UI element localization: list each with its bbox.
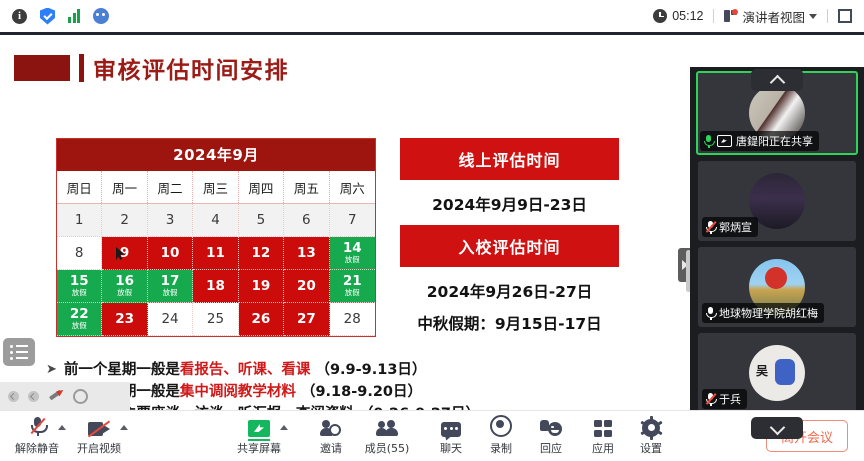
calendar-day-number: 1	[75, 213, 84, 227]
calendar-day-note: 放假	[163, 289, 178, 297]
calendar-day-note: 放假	[72, 289, 87, 297]
view-mode-label: 演讲者视图	[742, 7, 805, 26]
calendar-day-number: 10	[161, 246, 180, 260]
onsite-eval-header-text: 入校评估时间	[400, 225, 619, 267]
divider	[713, 9, 714, 23]
microphone-muted-icon	[706, 221, 715, 234]
calendar-weekday-4: 周四	[239, 171, 284, 203]
chevron-up-icon[interactable]	[280, 425, 288, 430]
calendar-day-number: 26	[252, 312, 271, 326]
zoom-meeting-window: i 05:12 演讲者视图 审核评	[0, 0, 864, 460]
security-shield-icon[interactable]	[40, 8, 55, 25]
spotlight-icon[interactable]	[73, 389, 88, 404]
onsite-eval-dates-text: 2024年9月26日-27日	[400, 280, 619, 302]
bullet-highlight: 看报告、听课、看课	[180, 362, 311, 378]
calendar-day-number: 28	[344, 312, 361, 326]
calendar-weekday-5: 周五	[284, 171, 329, 203]
calendar-weekday-6: 周六	[330, 171, 375, 203]
bullet-text: 前一个星期一般是看报告、听课、看课 （9.9-9.13日）	[64, 360, 427, 380]
network-signal-icon[interactable]	[68, 9, 80, 23]
slide-title-text: 审核评估时间安排	[93, 51, 289, 85]
invite-icon	[321, 417, 341, 437]
pen-icon[interactable]	[48, 389, 64, 403]
toolbar-label: 解除静音	[15, 440, 59, 456]
scroll-up-button[interactable]	[751, 69, 803, 91]
calendar-day-27: 27	[284, 303, 329, 336]
bullet-item-0: ➤前一个星期一般是看报告、听课、看课 （9.9-9.13日）	[46, 360, 646, 380]
participant-name: 地球物理学院胡红梅	[719, 305, 818, 321]
scroll-down-button[interactable]	[751, 417, 803, 439]
calendar-day-number: 11	[206, 246, 225, 260]
calendar-day-number: 20	[297, 279, 316, 293]
toolbar-label: 回应	[540, 440, 562, 456]
calendar-day-note: 放假	[345, 256, 360, 264]
chevron-up-icon	[771, 74, 784, 87]
chevron-up-icon[interactable]	[120, 425, 128, 430]
bullet-chevron-icon: ➤	[46, 360, 57, 380]
avatar: 吴	[749, 345, 805, 401]
microphone-muted-icon	[706, 393, 715, 406]
toolbar-settings-gear-button[interactable]: 设置	[620, 411, 682, 461]
chevron-up-icon[interactable]	[58, 425, 66, 430]
list-icon	[10, 345, 28, 360]
calendar-day-number: 27	[297, 312, 316, 326]
annotation-toolbar	[0, 382, 130, 410]
bottom-toolbar: 解除静音开启视频共享屏幕邀请成员(55)聊天录制回应应用设置 离开会议	[0, 410, 864, 461]
bullet-highlight: 集中调阅教学材料	[180, 384, 296, 400]
top-bar-left-icons: i	[0, 8, 109, 25]
toolbar-share-screen-button[interactable]: 共享屏幕	[228, 411, 290, 461]
meeting-timer-value: 05:12	[672, 9, 703, 23]
calendar-day-number: 15	[70, 274, 89, 288]
toolbar-camera-off-button[interactable]: 开启视频	[68, 411, 130, 461]
microphone-icon	[706, 307, 715, 320]
toolbar-label: 共享屏幕	[237, 440, 281, 456]
participant-tile-2[interactable]: 地球物理学院胡红梅	[698, 247, 856, 327]
calendar-day-number: 3	[166, 213, 175, 227]
calendar-day-16: 16放假	[102, 270, 147, 303]
participant-nametag: 郭炳宣	[702, 217, 758, 237]
calendar-day-note: 放假	[72, 322, 87, 330]
calendar-day-23: 23	[102, 303, 147, 336]
apps-icon	[594, 417, 613, 437]
toolbar-label: 聊天	[440, 440, 462, 456]
fullscreen-icon[interactable]	[838, 9, 852, 23]
toolbar-participants-button[interactable]: 成员(55)	[356, 411, 418, 461]
title-block-decoration	[14, 55, 70, 81]
calendar-day-number: 13	[297, 246, 316, 260]
online-eval-dates-text: 2024年9月9日-23日	[400, 193, 619, 215]
calendar-day-9: 9	[102, 237, 147, 270]
participant-tile-1[interactable]: 郭炳宣	[698, 161, 856, 241]
calendar-day-17: 17放假	[148, 270, 193, 303]
microphone-muted-icon	[30, 417, 44, 437]
calendar-day-3: 3	[148, 204, 193, 237]
calendar-day-number: 19	[252, 279, 271, 293]
calendar-day-19: 19	[239, 270, 284, 303]
calendar-day-20: 20	[284, 270, 329, 303]
view-mode-selector[interactable]: 演讲者视图	[724, 7, 817, 26]
info-icon[interactable]: i	[12, 9, 27, 24]
calendar-day-25: 25	[193, 303, 238, 336]
calendar-day-22: 22放假	[57, 303, 102, 336]
calendar-day-number: 17	[161, 274, 180, 288]
calendar-day-5: 5	[239, 204, 284, 237]
calendar-day-grid: 1234567891011121314放假15放假16放假17放假1819202…	[57, 204, 375, 336]
participant-tile-3[interactable]: 吴于兵	[698, 333, 856, 413]
calendar-day-note: 放假	[345, 289, 360, 297]
toolbar-label: 邀请	[320, 440, 342, 456]
calendar-day-number: 21	[343, 274, 362, 288]
calendar-day-number: 16	[115, 274, 134, 288]
title-bar-decoration	[79, 54, 84, 82]
toolbar-label: 录制	[490, 440, 512, 456]
calendar-day-24: 24	[148, 303, 193, 336]
calendar-month-label: 2024年9月	[57, 139, 375, 171]
toolbar-microphone-muted-button[interactable]: 解除静音	[6, 411, 68, 461]
settings-gear-icon	[642, 417, 660, 437]
participant-name: 唐鍉阳正在共享	[736, 133, 813, 149]
calendar-day-11: 11	[193, 237, 238, 270]
toolbar-label: 成员(55)	[365, 440, 410, 456]
participant-nametag: 于兵	[702, 389, 747, 409]
holiday-note-text: 中秋假期：9月15日-17日	[400, 312, 619, 334]
calendar-day-number: 25	[207, 312, 224, 326]
toolbar-invite-button[interactable]: 邀请	[300, 411, 362, 461]
calendar-weekday-0: 周日	[57, 171, 102, 203]
calendar-day-number: 22	[70, 307, 89, 321]
microphone-icon	[704, 135, 713, 148]
calendar-day-1: 1	[57, 204, 102, 237]
calendar-day-8: 8	[57, 237, 102, 270]
top-bar: i 05:12 演讲者视图	[0, 0, 864, 32]
calendar-day-number: 12	[252, 246, 271, 260]
participant-nametag: 唐鍉阳正在共享	[700, 131, 819, 151]
onsite-eval-header: 入校评估时间	[400, 225, 619, 267]
calendar-day-21: 21放假	[330, 270, 375, 303]
calendar-weekday-1: 周一	[102, 171, 147, 203]
camera-off-icon	[88, 417, 110, 437]
calendar-weekday-2: 周二	[148, 171, 193, 203]
top-bar-right-controls: 05:12 演讲者视图	[653, 7, 864, 26]
participant-name: 于兵	[719, 391, 741, 407]
calendar-day-18: 18	[193, 270, 238, 303]
bullet-item-1: ➤后一个星期一般是集中调阅教学材料 （9.18-9.20日）	[46, 382, 646, 402]
onsite-eval-dates: 2024年9月26日-27日	[400, 280, 619, 302]
calendar-weekday-3: 周三	[193, 171, 238, 203]
shared-screen-slide: 审核评估时间安排 2024年9月 周日周一周二周三周四周五周六 12345678…	[0, 35, 690, 410]
chat-icon	[441, 417, 461, 437]
share-screen-icon	[248, 417, 270, 437]
participant-nametag: 地球物理学院胡红梅	[702, 303, 824, 323]
chevron-down-icon	[809, 14, 817, 19]
participant-name: 郭炳宣	[719, 219, 752, 235]
calendar-day-number: 23	[115, 312, 134, 326]
online-eval-header: 线上评估时间	[400, 138, 619, 180]
record-icon	[490, 417, 512, 437]
calendar-day-number: 14	[343, 241, 362, 255]
meeting-timer: 05:12	[653, 9, 703, 23]
september-calendar: 2024年9月 周日周一周二周三周四周五周六 12345678910111213…	[56, 138, 376, 337]
calendar-day-number: 2	[120, 213, 129, 227]
toolbar-label: 开启视频	[77, 440, 121, 456]
divider	[827, 9, 828, 23]
reactions-icon	[540, 417, 562, 437]
calendar-day-2: 2	[102, 204, 147, 237]
calendar-day-number: 5	[257, 213, 266, 227]
holiday-note: 中秋假期：9月15日-17日	[400, 312, 619, 334]
calendar-day-note: 放假	[117, 289, 132, 297]
chevron-down-icon	[771, 422, 784, 435]
calendar-day-number: 24	[161, 312, 178, 326]
calendar-day-28: 28	[330, 303, 375, 336]
online-eval-dates: 2024年9月9日-23日	[400, 193, 619, 215]
calendar-day-number: 7	[348, 213, 357, 227]
toolbar-label: 应用	[592, 440, 614, 456]
calendar-day-number: 18	[206, 279, 225, 293]
calendar-day-number: 6	[302, 213, 311, 227]
participant-panel: 唐鍉阳正在共享郭炳宣地球物理学院胡红梅吴于兵	[690, 67, 864, 445]
assistant-face-icon[interactable]	[93, 8, 109, 24]
slide-title: 审核评估时间安排	[14, 51, 289, 85]
calendar-day-14: 14放假	[330, 237, 375, 270]
bullet-list: ➤前一个星期一般是看报告、听课、看课 （9.9-9.13日）➤后一个星期一般是集…	[46, 360, 646, 410]
calendar-day-4: 4	[193, 204, 238, 237]
calendar-day-7: 7	[330, 204, 375, 237]
speaker-view-icon	[724, 9, 738, 23]
toolbar-label: 设置	[640, 440, 662, 456]
calendar-day-number: 8	[75, 246, 84, 260]
screen-share-icon	[717, 135, 732, 147]
meeting-stage: 审核评估时间安排 2024年9月 周日周一周二周三周四周五周六 12345678…	[0, 32, 864, 413]
online-eval-header-text: 线上评估时间	[400, 138, 619, 180]
calendar-day-15: 15放假	[57, 270, 102, 303]
calendar-day-26: 26	[239, 303, 284, 336]
undo-icon[interactable]	[8, 391, 19, 402]
clock-icon	[653, 9, 667, 23]
calendar-day-12: 12	[239, 237, 284, 270]
calendar-day-number: 4	[211, 213, 220, 227]
calendar-day-10: 10	[148, 237, 193, 270]
redo-icon[interactable]	[28, 391, 39, 402]
list-menu-button[interactable]	[3, 338, 35, 366]
calendar-day-6: 6	[284, 204, 329, 237]
participants-icon	[376, 417, 398, 437]
calendar-day-13: 13	[284, 237, 329, 270]
calendar-weekday-header: 周日周一周二周三周四周五周六	[57, 171, 375, 204]
